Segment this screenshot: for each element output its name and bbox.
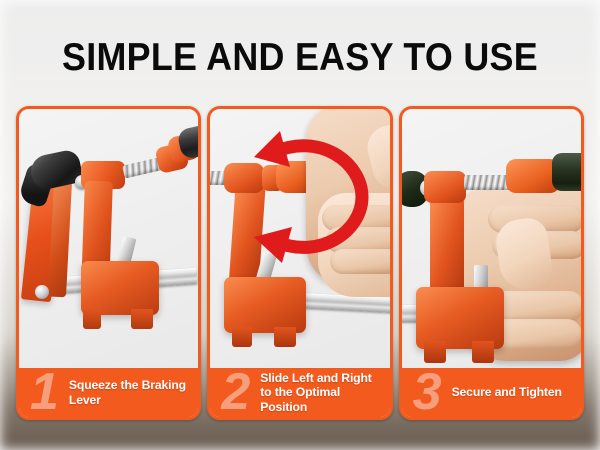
step-3-caption-line-1: Secure and Tighten	[452, 385, 562, 399]
steps-container: 1 Squeeze the Braking Lever	[16, 106, 584, 420]
clamp-foot-right	[274, 327, 296, 347]
rotation-arrows	[250, 127, 380, 267]
clamp-foot-right	[131, 309, 153, 329]
step-2-photo	[210, 109, 389, 368]
step-1-caption-text: Squeeze the Braking Lever	[69, 378, 198, 407]
clamp-foot-left	[83, 309, 101, 329]
clamp-head	[416, 287, 504, 349]
product-infographic: SIMPLE AND EASY TO USE	[0, 0, 600, 450]
step-1-photo	[19, 109, 198, 368]
step-3-photo	[402, 109, 581, 368]
clamp-jaw-rivet	[35, 285, 49, 299]
clamp-head	[224, 277, 306, 333]
handle-dark-grip	[552, 153, 581, 191]
step-1-number: 1	[30, 369, 59, 415]
screw-collar	[424, 171, 466, 203]
step-2-caption-bar: 2 Slide Left and Right to the Optimal Po…	[210, 368, 389, 417]
step-2-caption-line-2: to the Optimal Position	[260, 385, 383, 414]
step-1-caption-line-1: Squeeze the Braking Lever	[69, 378, 186, 407]
step-panel-1[interactable]: 1 Squeeze the Braking Lever	[16, 106, 201, 420]
clamp-threaded-screw	[464, 175, 512, 190]
step-3-caption-text: Secure and Tighten	[452, 385, 581, 400]
clamp-foot-left	[232, 327, 252, 347]
clamp-sliding-arm	[430, 197, 464, 301]
step-2-caption-text: Slide Left and Right to the Optimal Posi…	[260, 371, 389, 415]
step-3-number: 3	[413, 369, 442, 415]
clamp-foot-left	[424, 341, 446, 363]
clamp-head	[81, 261, 159, 315]
step-2-number: 2	[221, 369, 250, 415]
step-2-caption-line-1: Slide Left and Right	[260, 371, 371, 385]
step-panel-3[interactable]: 3 Secure and Tighten	[399, 106, 584, 420]
step-1-caption-bar: 1 Squeeze the Braking Lever	[19, 368, 198, 417]
page-title: SIMPLE AND EASY TO USE	[24, 37, 576, 79]
clamp-foot-right	[472, 341, 494, 363]
step-panel-2[interactable]: 2 Slide Left and Right to the Optimal Po…	[207, 106, 392, 420]
step-3-caption-bar: 3 Secure and Tighten	[402, 368, 581, 417]
